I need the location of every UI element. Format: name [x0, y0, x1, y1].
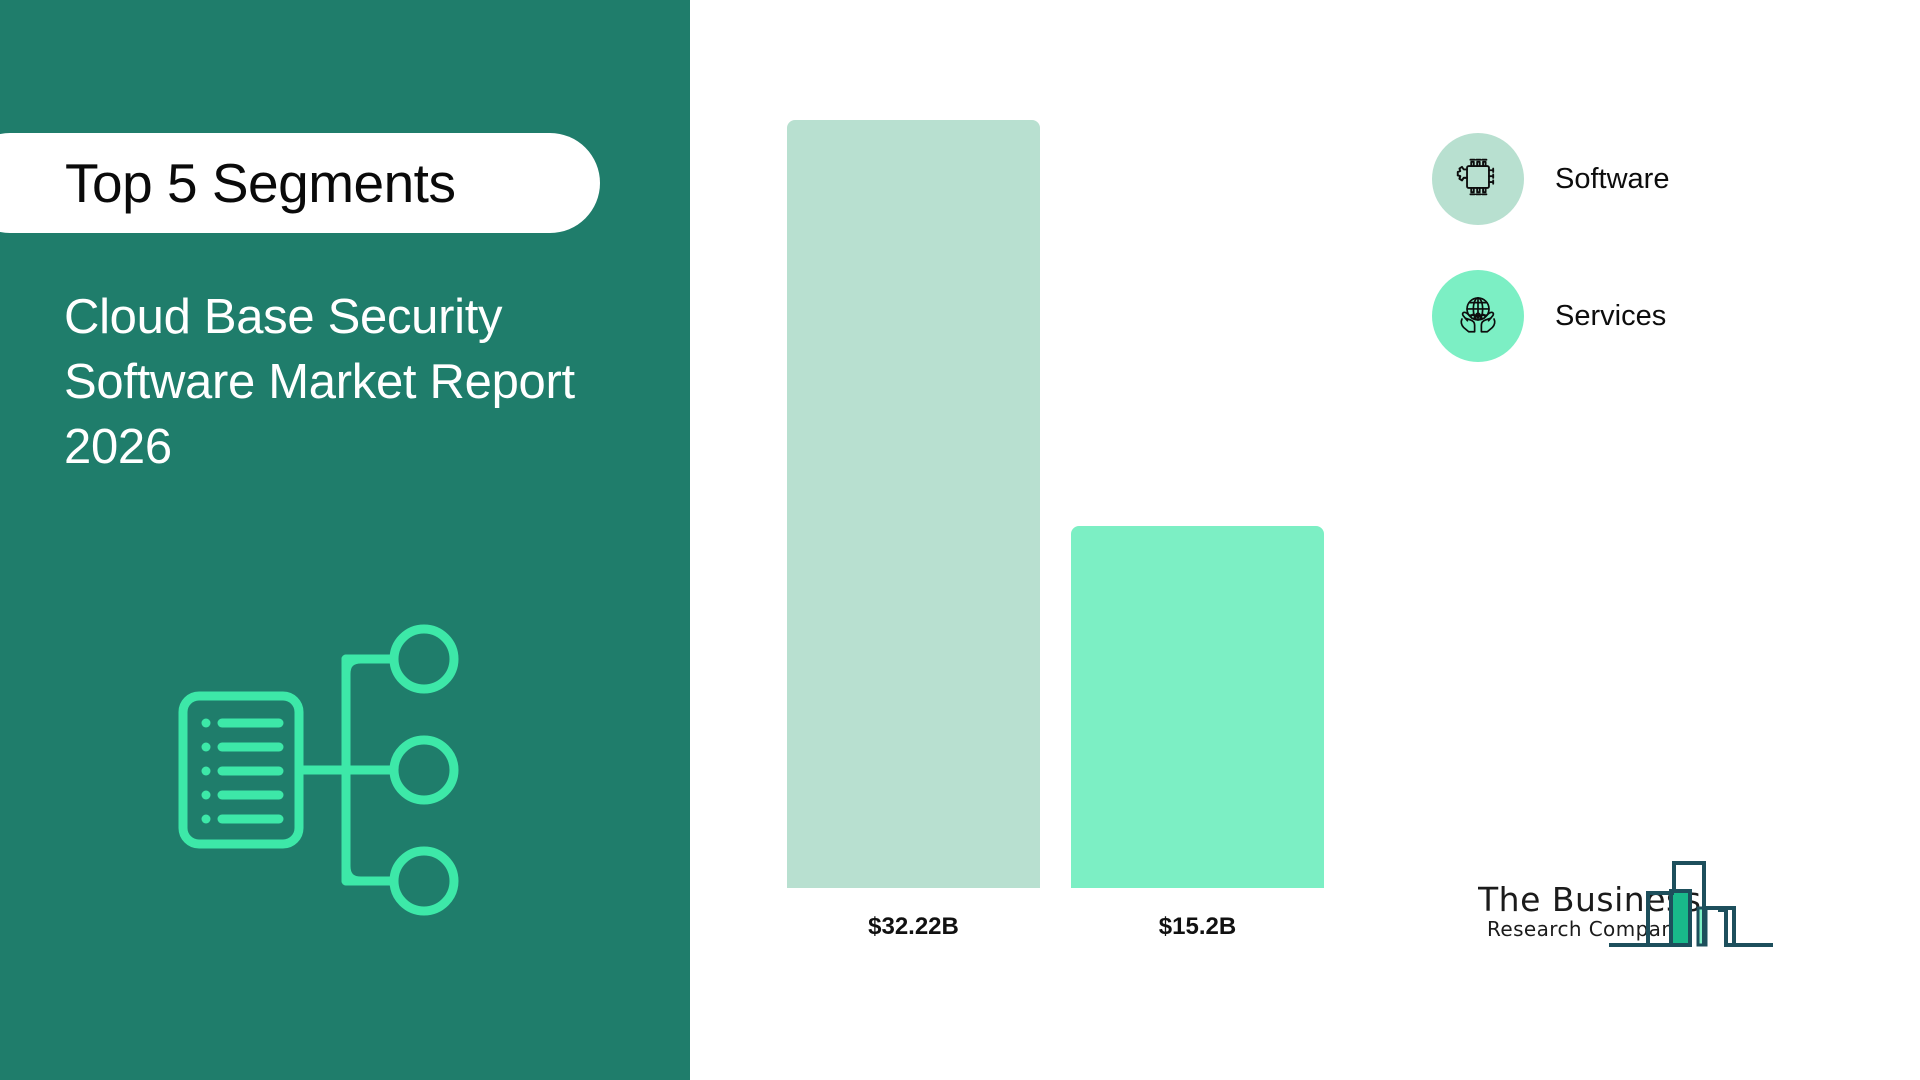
legend-label-software: Software	[1555, 163, 1669, 196]
legend-item-services[interactable]: Services	[1432, 270, 1669, 362]
slide-canvas: Top 5 Segments Cloud Base Security Softw…	[0, 0, 1920, 1080]
bar-services	[1071, 526, 1324, 888]
bar-group-software: $32.22B	[787, 120, 1040, 888]
top-segments-badge: Top 5 Segments	[0, 133, 600, 233]
left-panel: Top 5 Segments Cloud Base Security Softw…	[0, 0, 690, 1080]
chart-legend: Software	[1432, 133, 1669, 362]
badge-label: Top 5 Segments	[65, 151, 455, 215]
bar-group-services: $15.2B	[1071, 526, 1324, 888]
page-title: Cloud Base Security Software Market Repo…	[64, 285, 634, 480]
cpu-chip-gear-icon	[1451, 150, 1505, 209]
legend-bubble-services	[1432, 270, 1524, 362]
legend-bubble-software	[1432, 133, 1524, 225]
legend-label-services: Services	[1555, 300, 1666, 333]
hands-holding-globe-icon	[1451, 287, 1505, 346]
company-logo: The Business Research Company	[1478, 845, 1808, 960]
bar-value-label-services: $15.2B	[1159, 913, 1236, 941]
logo-line-2: Research Company	[1487, 917, 1687, 941]
bar-value-label-software: $32.22B	[868, 913, 959, 941]
logo-line-1: The Business	[1478, 880, 1701, 919]
legend-item-software[interactable]: Software	[1432, 133, 1669, 225]
bar-software	[787, 120, 1040, 888]
segmentation-document-icon	[168, 612, 498, 942]
